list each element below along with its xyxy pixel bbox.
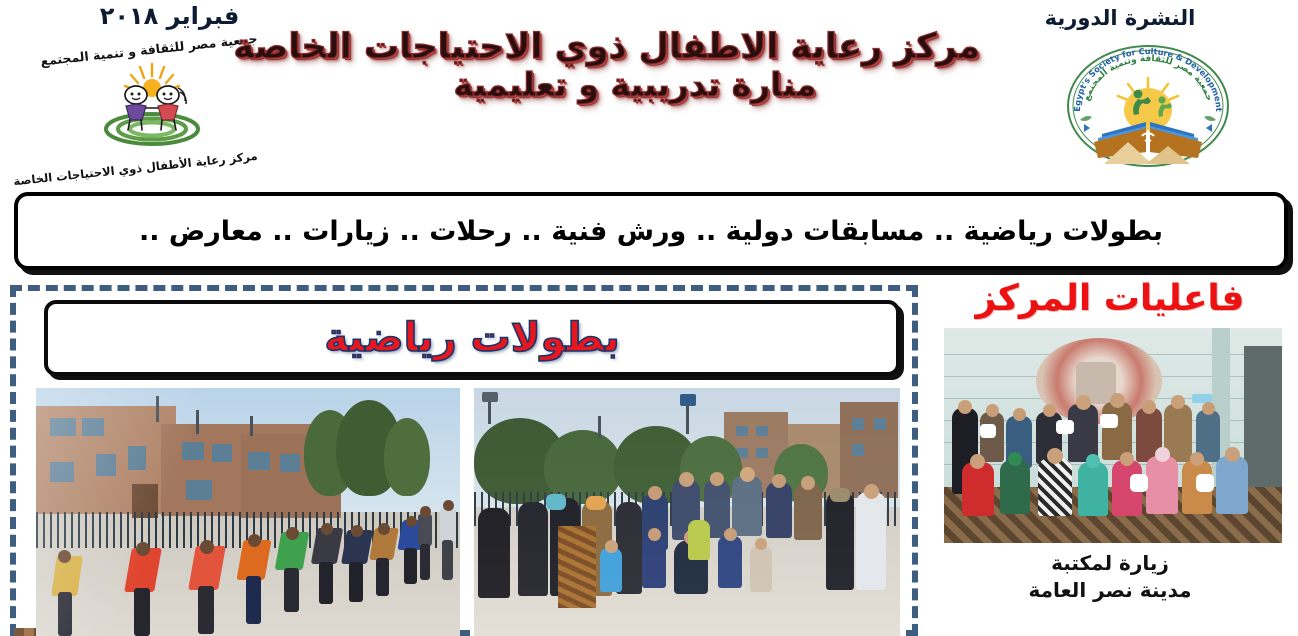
center-activities-heading: فاعليات المركز — [930, 278, 1290, 319]
library-visit-caption-line1: زيارة لمكتبة — [930, 550, 1290, 577]
newsletter-page: فبراير ٢٠١٨ جمعية مصر للثقافة و تنمية ال… — [0, 0, 1298, 636]
main-section-heading-box: بطولات رياضية — [44, 300, 900, 376]
issue-date: فبراير ٢٠١٨ — [62, 2, 277, 30]
page-title-line1: مركز رعاية الاطفال ذوي الاحتياجات الخاصة — [290, 28, 980, 67]
page-title: مركز رعاية الاطفال ذوي الاحتياجات الخاصة… — [290, 28, 980, 104]
main-section-heading: بطولات رياضية — [324, 315, 619, 361]
library-visit-caption-line2: مدينة نصر العامة — [930, 577, 1290, 604]
activities-banner: بطولات رياضية .. مسابقات دولية .. ورش فن… — [14, 192, 1288, 270]
page-title-line2: منارة تدريبية و تعليمية — [290, 67, 980, 104]
library-visit-photo — [944, 328, 1282, 543]
bulletin-label: النشرة الدورية — [1000, 6, 1240, 30]
sports-warmup-photo — [36, 388, 460, 636]
library-visit-caption: زيارة لمكتبة مدينة نصر العامة — [930, 550, 1290, 604]
activities-banner-text: بطولات رياضية .. مسابقات دولية .. ورش فن… — [139, 216, 1163, 247]
center-logo: جمعية مصر للثقافة و تنمية المجتمع — [42, 42, 258, 172]
group-photo — [474, 388, 900, 636]
center-activities-section: فاعليات المركز — [930, 278, 1290, 636]
society-emblem-icon: Egypt's Society for Culture & Developmen… — [1058, 42, 1238, 170]
two-children-sun-icon — [92, 62, 212, 152]
page-header: فبراير ٢٠١٨ جمعية مصر للثقافة و تنمية ال… — [0, 0, 1298, 178]
center-logo-bottom-caption: مركز رعاية الأطفال ذوي الاحتياجات الخاصة — [42, 149, 258, 186]
